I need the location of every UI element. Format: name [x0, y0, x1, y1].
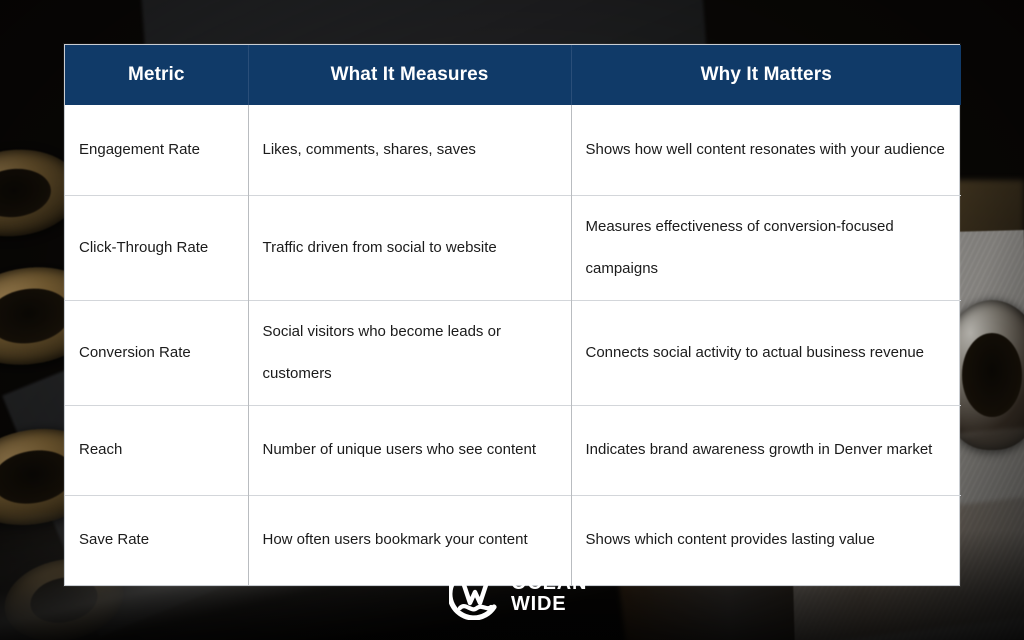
ocean-wide-circular-w-wave-icon [449, 568, 501, 620]
metrics-table-container: Metric What It Measures Why It Matters E… [64, 44, 960, 586]
table-header: Metric What It Measures Why It Matters [65, 45, 961, 105]
cell-metric: Click-Through Rate [65, 195, 248, 300]
header-row: Metric What It Measures Why It Matters [65, 45, 961, 105]
column-header-metric: Metric [65, 45, 248, 105]
column-header-measures: What It Measures [248, 45, 571, 105]
logo-line-wide: WIDE [511, 594, 587, 615]
table-row: Engagement Rate Likes, comments, shares,… [65, 105, 961, 195]
cell-measures: Number of unique users who see content [248, 405, 571, 495]
cell-measures: Traffic driven from social to website [248, 195, 571, 300]
cell-measures: Likes, comments, shares, saves [248, 105, 571, 195]
table-row: Click-Through Rate Traffic driven from s… [65, 195, 961, 300]
social-media-metrics-table: Metric What It Measures Why It Matters E… [65, 45, 961, 585]
cell-matters: Shows which content provides lasting val… [571, 495, 961, 585]
table-body: Engagement Rate Likes, comments, shares,… [65, 105, 961, 585]
cell-matters: Measures effectiveness of conversion-foc… [571, 195, 961, 300]
logo-line-ocean: OCEAN [511, 573, 587, 594]
cell-metric: Reach [65, 405, 248, 495]
cell-measures: Social visitors who become leads or cust… [248, 300, 571, 405]
logo-wordmark: OCEAN WIDE [511, 573, 587, 615]
cell-matters: Indicates brand awareness growth in Denv… [571, 405, 961, 495]
table-row: Reach Number of unique users who see con… [65, 405, 961, 495]
cell-metric: Save Rate [65, 495, 248, 585]
table-row: Conversion Rate Social visitors who beco… [65, 300, 961, 405]
cell-metric: Engagement Rate [65, 105, 248, 195]
cell-matters: Connects social activity to actual busin… [571, 300, 961, 405]
column-header-matters: Why It Matters [571, 45, 961, 105]
ocean-wide-logo: OCEAN WIDE [449, 568, 587, 620]
cell-metric: Conversion Rate [65, 300, 248, 405]
cell-matters: Shows how well content resonates with yo… [571, 105, 961, 195]
